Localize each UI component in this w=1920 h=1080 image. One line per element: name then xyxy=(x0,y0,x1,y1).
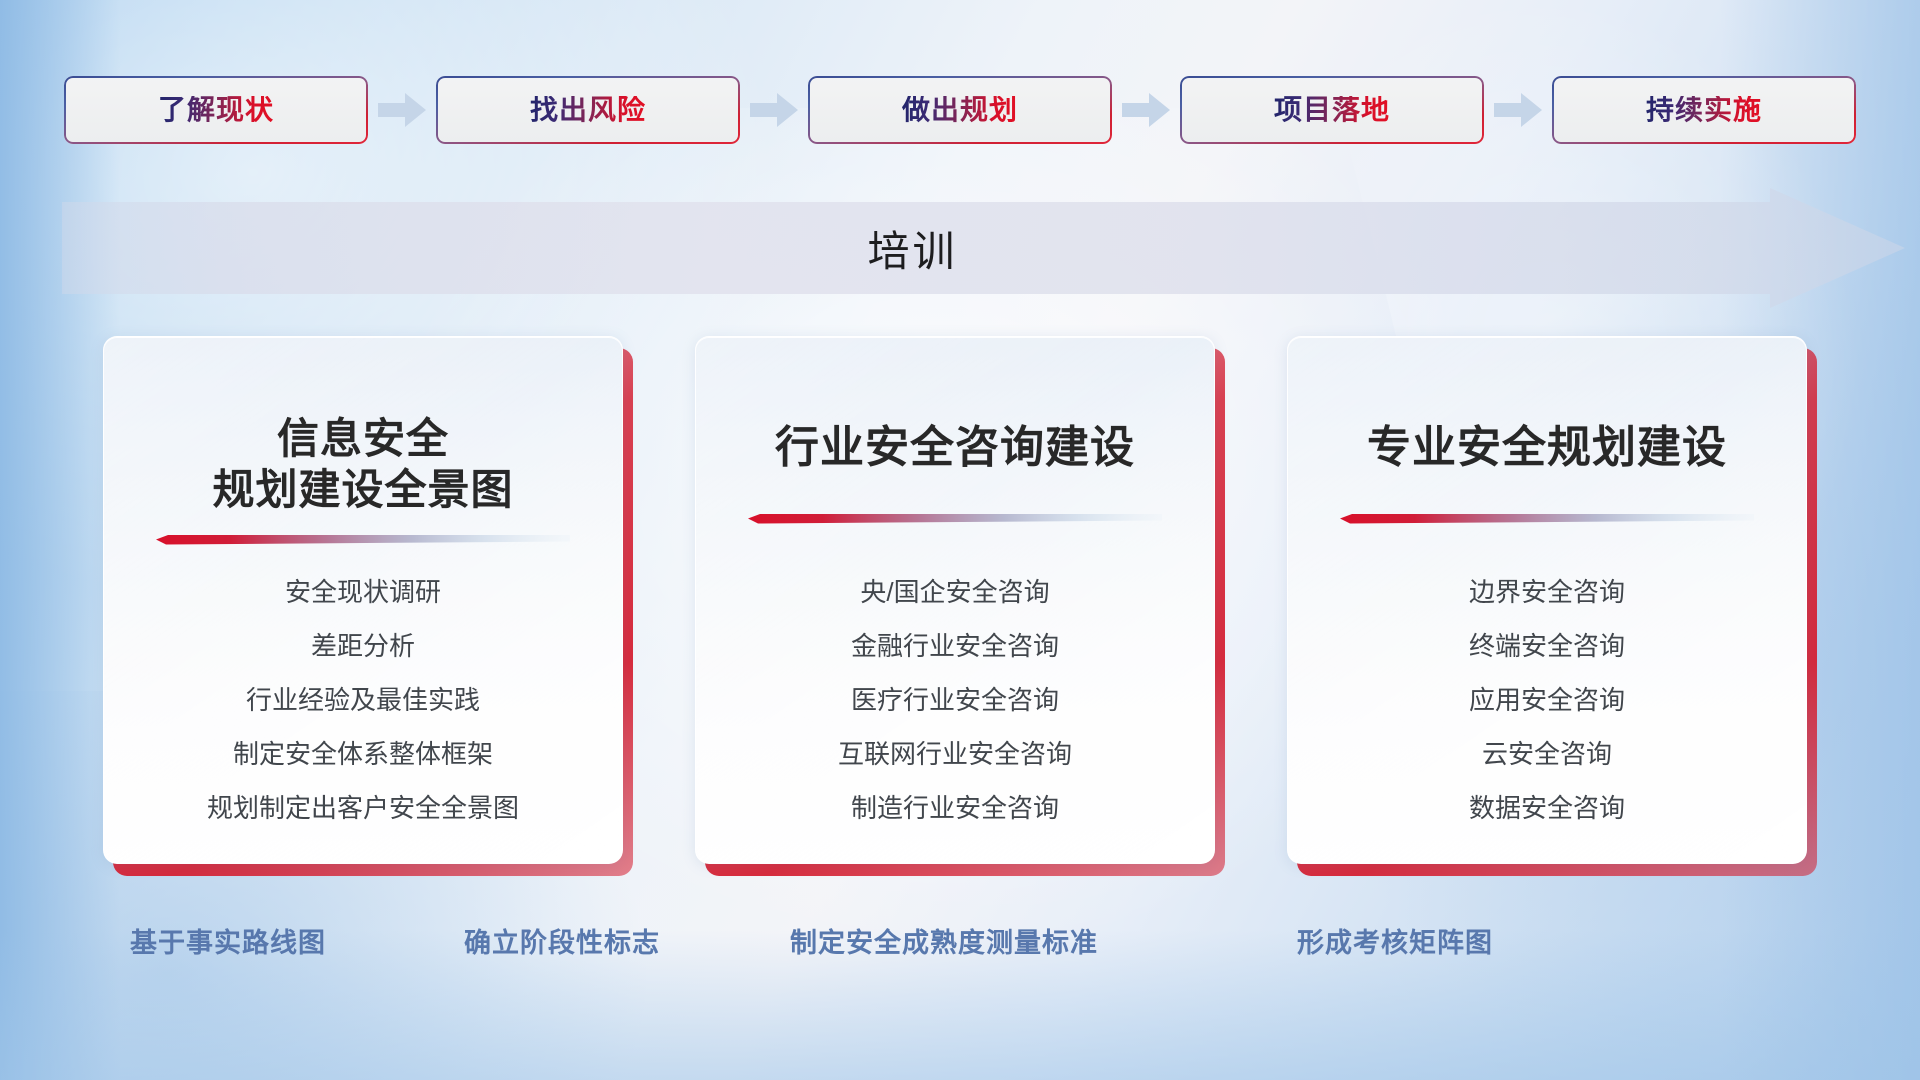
caption-3: 制定安全成熟度测量标准 xyxy=(790,910,1098,970)
step-box-2[interactable]: 找出风险 xyxy=(436,76,740,144)
list-item: 行业经验及最佳实践 xyxy=(246,675,480,725)
step-box-4[interactable]: 项目落地 xyxy=(1180,76,1484,144)
ribbon-label: 培训 xyxy=(867,218,957,279)
card-title-3-line-1: 专业安全规划建设 xyxy=(1288,421,1806,475)
caption-2: 确立阶段性标志 xyxy=(464,910,660,970)
card-wrap-1: 信息安全 规划建设全景图 xyxy=(103,336,633,876)
step-label-1: 了解现状 xyxy=(158,96,274,124)
card-3[interactable]: 专业安全规划建设 xyxy=(1287,336,1807,864)
card-row: 信息安全 规划建设全景图 xyxy=(0,336,1920,876)
list-item: 互联网行业安全咨询 xyxy=(838,729,1072,779)
list-item: 医疗行业安全咨询 xyxy=(851,675,1059,725)
card-1-inner: 信息安全 规划建设全景图 xyxy=(104,337,622,863)
list-item: 制定安全体系整体框架 xyxy=(233,729,493,779)
card-list-2: 央/国企安全咨询 金融行业安全咨询 医疗行业安全咨询 互联网行业安全咨询 制造行… xyxy=(696,567,1214,863)
step-arrow-2 xyxy=(740,76,808,144)
card-title-2: 行业安全咨询建设 xyxy=(696,421,1214,475)
list-item: 安全现状调研 xyxy=(285,567,441,617)
card-wrap-3: 专业安全规划建设 xyxy=(1287,336,1817,876)
step-label-4: 项目落地 xyxy=(1274,96,1390,124)
caption-row: 基于事实路线图 确立阶段性标志 制定安全成熟度测量标准 形成考核矩阵图 xyxy=(0,910,1920,970)
card-divider-2 xyxy=(748,514,1162,527)
list-item: 应用安全咨询 xyxy=(1469,675,1625,725)
ribbon-text-wrap: 培训 xyxy=(0,188,1920,308)
card-title-1-line-1: 信息安全 xyxy=(104,413,622,464)
card-divider-1 xyxy=(156,535,570,548)
list-item: 规划制定出客户安全全景图 xyxy=(207,783,519,833)
caption-1: 基于事实路线图 xyxy=(130,910,326,970)
card-list-1: 安全现状调研 差距分析 行业经验及最佳实践 制定安全体系整体框架 规划制定出客户… xyxy=(104,567,622,863)
card-list-3: 边界安全咨询 终端安全咨询 应用安全咨询 云安全咨询 数据安全咨询 xyxy=(1288,567,1806,863)
step-box-3[interactable]: 做出规划 xyxy=(808,76,1112,144)
card-title-1: 信息安全 规划建设全景图 xyxy=(104,413,622,515)
list-item: 央/国企安全咨询 xyxy=(860,567,1049,617)
step-label-3: 做出规划 xyxy=(902,96,1018,124)
step-box-1[interactable]: 了解现状 xyxy=(64,76,368,144)
card-divider-3 xyxy=(1340,514,1754,527)
card-title-3: 专业安全规划建设 xyxy=(1288,421,1806,475)
list-item: 数据安全咨询 xyxy=(1469,783,1625,833)
card-3-inner: 专业安全规划建设 xyxy=(1288,337,1806,863)
step-box-5[interactable]: 持续实施 xyxy=(1552,76,1856,144)
card-2[interactable]: 行业安全咨询建设 xyxy=(695,336,1215,864)
card-title-2-line-1: 行业安全咨询建设 xyxy=(696,421,1214,475)
caption-4: 形成考核矩阵图 xyxy=(1297,910,1493,970)
step-arrow-1 xyxy=(368,76,436,144)
process-step-row: 了解现状 找出风险 做出规划 项目落地 持续实施 xyxy=(0,76,1920,144)
list-item: 金融行业安全咨询 xyxy=(851,621,1059,671)
step-label-2: 找出风险 xyxy=(530,96,646,124)
list-item: 边界安全咨询 xyxy=(1469,567,1625,617)
card-2-inner: 行业安全咨询建设 xyxy=(696,337,1214,863)
step-arrow-4 xyxy=(1484,76,1552,144)
list-item: 云安全咨询 xyxy=(1482,729,1612,779)
step-arrow-3 xyxy=(1112,76,1180,144)
list-item: 差距分析 xyxy=(311,621,415,671)
list-item: 终端安全咨询 xyxy=(1469,621,1625,671)
card-wrap-2: 行业安全咨询建设 xyxy=(695,336,1225,876)
training-ribbon: 培训 xyxy=(0,188,1920,308)
step-label-5: 持续实施 xyxy=(1646,96,1762,124)
card-title-1-line-2: 规划建设全景图 xyxy=(104,464,622,515)
list-item: 制造行业安全咨询 xyxy=(851,783,1059,833)
card-1[interactable]: 信息安全 规划建设全景图 xyxy=(103,336,623,864)
